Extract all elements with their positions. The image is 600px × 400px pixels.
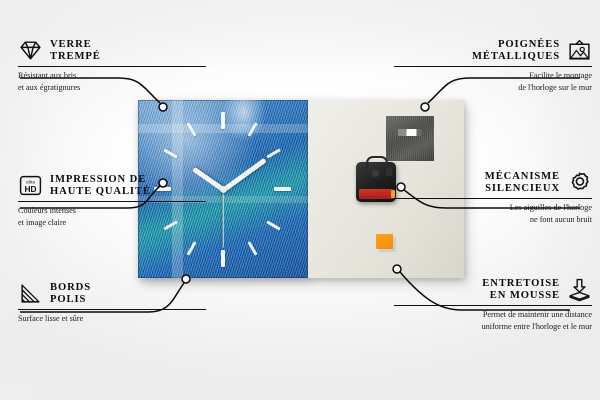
feature-impression-haute-qualite: ultra HD IMPRESSION DE HAUTE QUALITÉ Cou… (18, 173, 206, 229)
feature-header: ultra HD IMPRESSION DE HAUTE QUALITÉ (18, 173, 206, 198)
feature-description: Surface lisse et sûre (18, 313, 206, 325)
feature-description-line-1: Surface lisse et sûre (18, 313, 206, 325)
clock-minute-hand (222, 158, 267, 192)
feature-title-line-1: BORDS (50, 282, 91, 294)
feature-title-line-2: HAUTE QUALITÉ (50, 186, 151, 198)
feature-title: POIGNÉES MÉTALLIQUES (472, 39, 560, 63)
hour-tick-6 (221, 250, 225, 267)
mechanism-shaft (372, 170, 379, 177)
feature-title-line-1: MÉCANISME (485, 171, 560, 183)
divider (18, 201, 206, 202)
feature-mecanisme-silencieux: MÉCANISME SILENCIEUX Les aiguilles de l'… (394, 170, 592, 226)
feature-title-line-1: POIGNÉES (472, 39, 560, 51)
feature-description-line-1: Permet de maintenir une distance (394, 309, 592, 321)
mechanism-hook (366, 156, 388, 168)
mechanism-switch (386, 167, 392, 176)
divider (18, 309, 206, 310)
feature-description-line-2: et image claire (18, 217, 206, 229)
feature-description-line-2: uniforme entre l'horloge et le mur (394, 321, 592, 333)
feature-title: ENTRETOISE EN MOUSSE (482, 278, 560, 302)
feature-entretoise-en-mousse: ENTRETOISE EN MOUSSE Permet de maintenir… (394, 277, 592, 333)
feature-header: MÉCANISME SILENCIEUX (394, 170, 592, 195)
feature-description-line-2: et aux égratignures (18, 82, 206, 94)
hour-tick-2 (266, 148, 281, 158)
hour-tick-3 (274, 187, 291, 191)
feature-description: Permet de maintenir une distance uniform… (394, 309, 592, 333)
battery (359, 189, 393, 199)
foam-spacer-icon (567, 277, 592, 302)
diamond-icon (18, 38, 43, 63)
feature-title: IMPRESSION DE HAUTE QUALITÉ (50, 174, 151, 198)
clock-center-cap (220, 186, 227, 193)
svg-text:HD: HD (24, 184, 36, 194)
polished-edge-icon (18, 281, 43, 306)
hour-tick-5 (247, 241, 257, 256)
quartz-mechanism (356, 162, 396, 202)
feature-header: ENTRETOISE EN MOUSSE (394, 277, 592, 302)
picture-hanger-icon (567, 38, 592, 63)
feature-header: BORDS POLIS (18, 281, 206, 306)
hanger-slot (398, 129, 422, 136)
feature-title-line-1: VERRE (50, 39, 101, 51)
feature-description-line-2: de l'horloge sur le mur (394, 82, 592, 94)
feature-title-line-2: MÉTALLIQUES (472, 51, 560, 63)
divider (394, 66, 592, 67)
gear-icon (567, 170, 592, 195)
feature-title-line-2: POLIS (50, 294, 91, 306)
hour-tick-4 (266, 220, 281, 230)
hour-tick-7 (186, 241, 196, 256)
feature-bords-polis: BORDS POLIS Surface lisse et sûre (18, 281, 206, 325)
infographic-canvas: VERRE TREMPÉ Résistant aux bris et aux é… (0, 0, 600, 400)
clock-second-hand (222, 190, 223, 248)
feature-header: POIGNÉES MÉTALLIQUES (394, 38, 592, 63)
divider (394, 305, 592, 306)
feature-description: Facilite le montage de l'horloge sur le … (394, 70, 592, 94)
feature-header: VERRE TREMPÉ (18, 38, 206, 63)
feature-description-line-1: Les aiguilles de l'horloge (394, 202, 592, 214)
ultra-hd-icon: ultra HD (18, 173, 43, 198)
metal-hanger-plate (386, 116, 434, 161)
feature-title: BORDS POLIS (50, 282, 91, 306)
feature-title-line-1: ENTRETOISE (482, 278, 560, 290)
feature-description: Couleurs intenses et image claire (18, 205, 206, 229)
feature-title: MÉCANISME SILENCIEUX (485, 171, 560, 195)
divider (18, 66, 206, 67)
divider (394, 198, 592, 199)
feature-title-line-1: IMPRESSION DE (50, 174, 151, 186)
feature-title-line-2: TREMPÉ (50, 51, 101, 63)
foam-spacer (376, 234, 393, 249)
hour-tick-12 (221, 112, 225, 129)
feature-title-line-2: EN MOUSSE (482, 290, 560, 302)
feature-description-line-1: Facilite le montage (394, 70, 592, 82)
feature-title: VERRE TREMPÉ (50, 39, 101, 63)
feature-description: Résistant aux bris et aux égratignures (18, 70, 206, 94)
feature-description-line-1: Résistant aux bris (18, 70, 206, 82)
highlight-glow (222, 100, 266, 142)
feature-verre-trempe: VERRE TREMPÉ Résistant aux bris et aux é… (18, 38, 206, 94)
feature-description: Les aiguilles de l'horloge ne font aucun… (394, 202, 592, 226)
feature-title-line-2: SILENCIEUX (485, 183, 560, 195)
feature-description-line-1: Couleurs intenses (18, 205, 206, 217)
feature-description-line-2: ne font aucun bruit (394, 214, 592, 226)
feature-poignees-metalliques: POIGNÉES MÉTALLIQUES Facilite le montage… (394, 38, 592, 94)
